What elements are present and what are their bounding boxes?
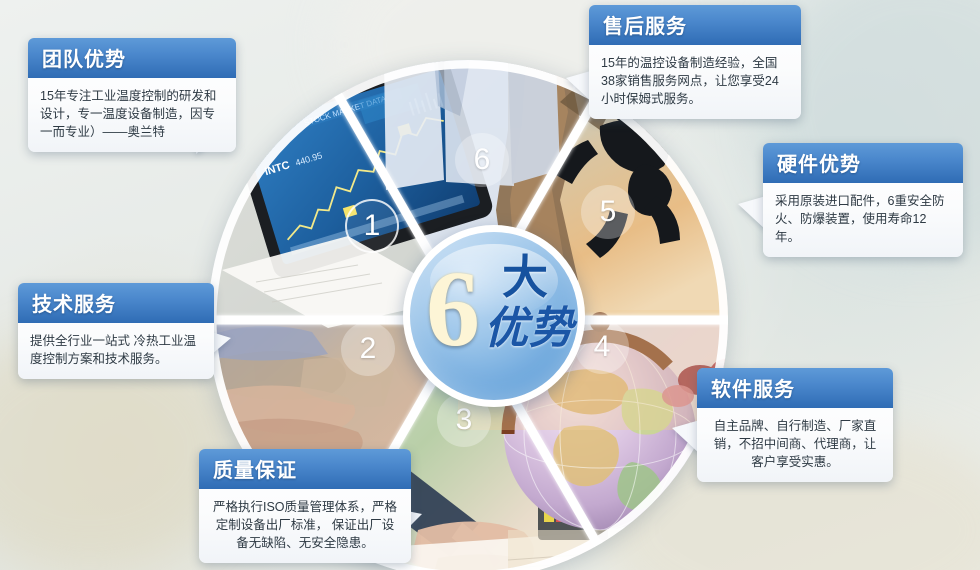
- callout-title-team: 团队优势: [28, 38, 236, 78]
- marker-label: 5: [600, 195, 617, 229]
- emblem-number: 6: [426, 256, 480, 364]
- callout-body-tech: 提供全行业一站式 冷热工业温度控制方案和技术服务。: [18, 323, 214, 379]
- callout-title-hardware: 硬件优势: [763, 143, 963, 183]
- marker-2[interactable]: 2: [341, 322, 395, 376]
- emblem-word-youshi: 优势: [484, 306, 574, 352]
- callout-card-quality[interactable]: 质量保证 严格执行ISO质量管理体系，严格定制设备出厂标准， 保证出厂设备无缺陷…: [199, 449, 411, 563]
- marker-label: 3: [456, 403, 473, 437]
- callout-card-tech[interactable]: 技术服务 提供全行业一站式 冷热工业温度控制方案和技术服务。: [18, 283, 214, 379]
- marker-label: 4: [594, 330, 611, 364]
- marker-label: 1: [364, 209, 381, 243]
- callout-card-after-sales[interactable]: 售后服务 15年的温控设备制造经验，全国38家销售服务网点，让您享受24小时保姆…: [589, 5, 801, 119]
- callout-title-software: 软件服务: [697, 368, 893, 408]
- callout-body-team: 15年专注工业温度控制的研发和设计，专一温度设备制造，因专一而专业）——奥兰特: [28, 78, 236, 152]
- center-emblem: 6 大 优势: [403, 225, 585, 407]
- callout-body-after-sales: 15年的温控设备制造经验，全国38家销售服务网点，让您享受24小时保姆式服务。: [589, 45, 801, 119]
- marker-5[interactable]: 5: [581, 185, 635, 239]
- callout-title-after-sales: 售后服务: [589, 5, 801, 45]
- callout-title-quality: 质量保证: [199, 449, 411, 489]
- callout-body-quality: 严格执行ISO质量管理体系，严格定制设备出厂标准， 保证出厂设备无缺陷、无安全隐…: [199, 489, 411, 563]
- marker-1[interactable]: 1: [345, 199, 399, 253]
- marker-label: 6: [474, 143, 491, 177]
- callout-card-team[interactable]: 团队优势 15年专注工业温度控制的研发和设计，专一温度设备制造，因专一而专业）—…: [28, 38, 236, 152]
- marker-6[interactable]: 6: [455, 133, 509, 187]
- poster-canvas: STOCK MARKET DATA INTC 440.95: [0, 0, 980, 570]
- callout-tail-hardware: [738, 196, 766, 230]
- callout-card-hardware[interactable]: 硬件优势 采用原装进口配件，6重安全防火、防爆装置，使用寿命12年。: [763, 143, 963, 257]
- callout-card-software[interactable]: 软件服务 自主品牌、自行制造、厂家直销，不招中间商、代理商，让客户享受实惠。: [697, 368, 893, 482]
- emblem-word-da: 大: [502, 254, 548, 300]
- callout-title-tech: 技术服务: [18, 283, 214, 323]
- callout-body-hardware: 采用原装进口配件，6重安全防火、防爆装置，使用寿命12年。: [763, 183, 963, 257]
- marker-label: 2: [360, 332, 377, 366]
- callout-body-software: 自主品牌、自行制造、厂家直销，不招中间商、代理商，让客户享受实惠。: [697, 408, 893, 482]
- callout-tail-software: [672, 420, 700, 454]
